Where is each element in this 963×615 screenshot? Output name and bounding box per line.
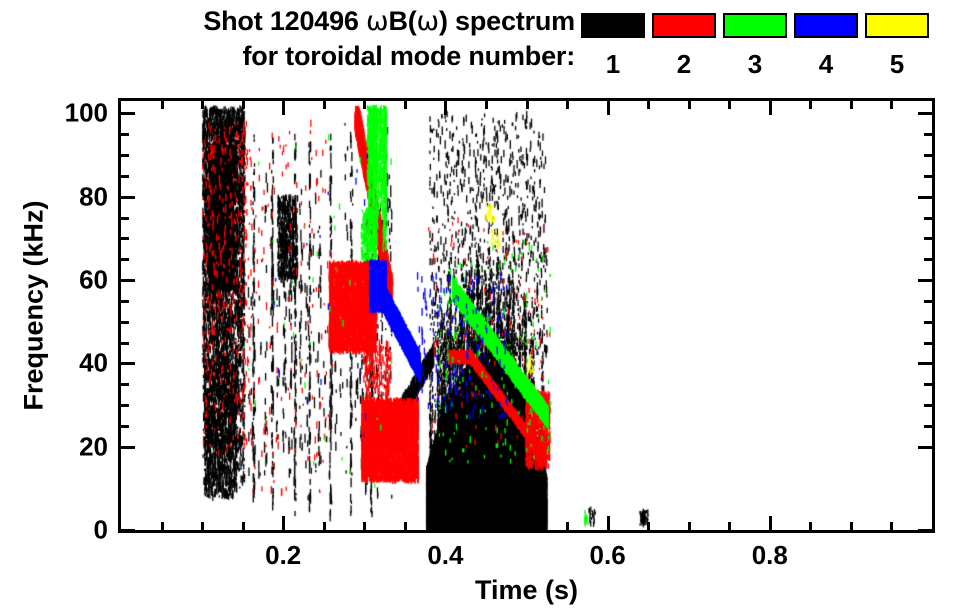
y-minor-tick <box>121 133 129 136</box>
title-spectrum-text: ) spectrum <box>439 6 575 36</box>
x-major-tick-top <box>769 101 772 115</box>
x-tick-label: 0.6 <box>590 540 626 571</box>
x-minor-tick <box>809 522 812 530</box>
y-minor-tick <box>121 300 129 303</box>
x-major-tick-bottom <box>444 516 447 530</box>
x-minor-tick <box>566 101 569 109</box>
x-major-tick-bottom <box>607 516 610 530</box>
x-minor-tick <box>850 522 853 530</box>
y-minor-tick <box>121 425 129 428</box>
legend-label-mode-3: 3 <box>723 49 787 79</box>
y-minor-tick <box>924 321 932 324</box>
y-tick-label: 0 <box>22 515 108 546</box>
y-minor-tick <box>121 404 129 407</box>
y-tick-label: 40 <box>22 348 108 379</box>
legend-entry-mode-5: 5 <box>865 13 929 79</box>
plot-frame <box>118 98 935 533</box>
x-minor-tick <box>526 522 529 530</box>
legend-swatch-mode-3 <box>723 13 787 38</box>
x-minor-tick <box>809 101 812 109</box>
y-minor-tick <box>121 237 129 240</box>
legend-swatch-mode-1 <box>581 13 645 38</box>
x-minor-tick <box>728 101 731 109</box>
y-major-tick <box>918 279 932 282</box>
legend-swatch-mode-4 <box>794 13 858 38</box>
y-minor-tick <box>121 154 129 157</box>
x-minor-tick <box>161 522 164 530</box>
y-major-tick <box>121 446 135 449</box>
legend-swatch-mode-2 <box>652 13 716 38</box>
legend: 12345 <box>581 13 933 85</box>
x-minor-tick <box>161 101 164 109</box>
legend-label-mode-5: 5 <box>865 49 929 79</box>
x-minor-tick <box>485 522 488 530</box>
x-minor-tick <box>688 522 691 530</box>
y-minor-tick <box>924 258 932 261</box>
omega-symbol-1: ω <box>366 6 388 37</box>
legend-entry-mode-2: 2 <box>652 13 716 79</box>
y-minor-tick <box>121 175 129 178</box>
spectrogram-data-canvas <box>121 101 932 530</box>
y-major-tick <box>918 446 932 449</box>
x-minor-tick <box>890 522 893 530</box>
x-minor-tick <box>728 522 731 530</box>
x-minor-tick <box>647 522 650 530</box>
y-minor-tick <box>121 383 129 386</box>
y-tick-label: 60 <box>22 265 108 296</box>
x-minor-tick <box>890 101 893 109</box>
y-tick-label: 20 <box>22 431 108 462</box>
y-tick-label: 80 <box>22 181 108 212</box>
y-minor-tick <box>121 217 129 220</box>
x-major-tick-top <box>607 101 610 115</box>
x-minor-tick <box>526 101 529 109</box>
x-minor-tick <box>566 522 569 530</box>
y-major-tick <box>918 529 932 532</box>
x-minor-tick <box>323 101 326 109</box>
y-major-tick <box>121 362 135 365</box>
y-minor-tick <box>121 342 129 345</box>
x-minor-tick <box>323 522 326 530</box>
x-minor-tick <box>647 101 650 109</box>
y-minor-tick <box>924 154 932 157</box>
y-minor-tick <box>121 321 129 324</box>
x-minor-tick <box>688 101 691 109</box>
x-major-tick-top <box>444 101 447 115</box>
x-axis-title: Time (s) <box>118 575 935 606</box>
y-minor-tick <box>924 175 932 178</box>
y-tick-label: 100 <box>22 98 108 129</box>
y-minor-tick <box>924 383 932 386</box>
y-minor-tick <box>924 217 932 220</box>
x-major-tick-bottom <box>769 516 772 530</box>
x-minor-tick <box>485 101 488 109</box>
y-major-tick <box>121 112 135 115</box>
figure-title: Shot 120496 ωB(ω) spectrum for toroidal … <box>0 4 575 73</box>
legend-entry-mode-1: 1 <box>581 13 645 79</box>
y-minor-tick <box>924 237 932 240</box>
legend-entry-mode-3: 3 <box>723 13 787 79</box>
x-minor-tick <box>404 101 407 109</box>
y-minor-tick <box>924 133 932 136</box>
y-minor-tick <box>924 404 932 407</box>
y-axis-title: Frequency (kHz) <box>19 176 50 436</box>
x-major-tick-bottom <box>282 516 285 530</box>
y-minor-tick <box>121 258 129 261</box>
spectrogram-figure: Shot 120496 ωB(ω) spectrum for toroidal … <box>0 0 963 615</box>
legend-swatch-mode-5 <box>865 13 929 38</box>
title-shot-text: Shot 120496 <box>203 6 366 36</box>
x-minor-tick <box>242 101 245 109</box>
plot-area <box>121 101 932 530</box>
y-major-tick <box>121 529 135 532</box>
legend-label-mode-1: 1 <box>581 49 645 79</box>
legend-label-mode-2: 2 <box>652 49 716 79</box>
title-line-1: Shot 120496 ωB(ω) spectrum <box>0 4 575 39</box>
legend-label-mode-4: 4 <box>794 49 858 79</box>
y-minor-tick <box>924 300 932 303</box>
x-minor-tick <box>201 101 204 109</box>
x-minor-tick <box>363 101 366 109</box>
legend-entry-mode-4: 4 <box>794 13 858 79</box>
x-minor-tick <box>404 522 407 530</box>
y-minor-tick <box>924 342 932 345</box>
title-line-2: for toroidal mode number: <box>0 39 575 73</box>
y-major-tick <box>918 362 932 365</box>
y-major-tick <box>918 196 932 199</box>
x-minor-tick <box>363 522 366 530</box>
y-major-tick <box>121 196 135 199</box>
omega-symbol-2: ω <box>417 6 439 37</box>
x-major-tick-top <box>282 101 285 115</box>
y-minor-tick <box>924 425 932 428</box>
x-minor-tick <box>242 522 245 530</box>
x-minor-tick <box>850 101 853 109</box>
x-minor-tick <box>201 522 204 530</box>
x-tick-label: 0.8 <box>752 540 788 571</box>
x-tick-label: 0.4 <box>427 540 463 571</box>
x-tick-label: 0.2 <box>265 540 301 571</box>
title-b-text: B( <box>388 6 416 36</box>
y-major-tick <box>918 112 932 115</box>
y-major-tick <box>121 279 135 282</box>
